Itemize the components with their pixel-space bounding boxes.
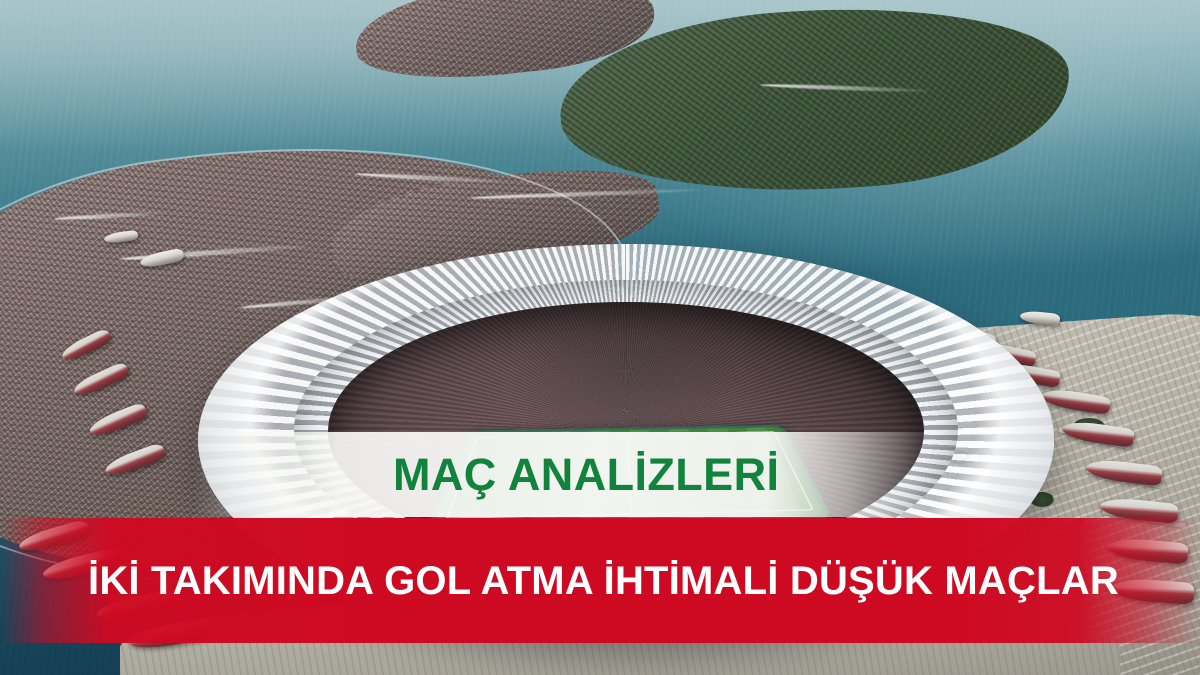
banner-graphic: MAÇ ANALİZLERİ İKİ TAKIMINDA GOL ATMA İH… [0,0,1200,675]
headline-text: İKİ TAKIMINDA GOL ATMA İHTİMALİ DÜŞÜK MA… [88,561,1119,601]
category-band: MAÇ ANALİZLERİ [0,432,1200,517]
category-label: MAÇ ANALİZLERİ [393,452,779,497]
headline-band: İKİ TAKIMINDA GOL ATMA İHTİMALİ DÜŞÜK MA… [0,518,1200,643]
